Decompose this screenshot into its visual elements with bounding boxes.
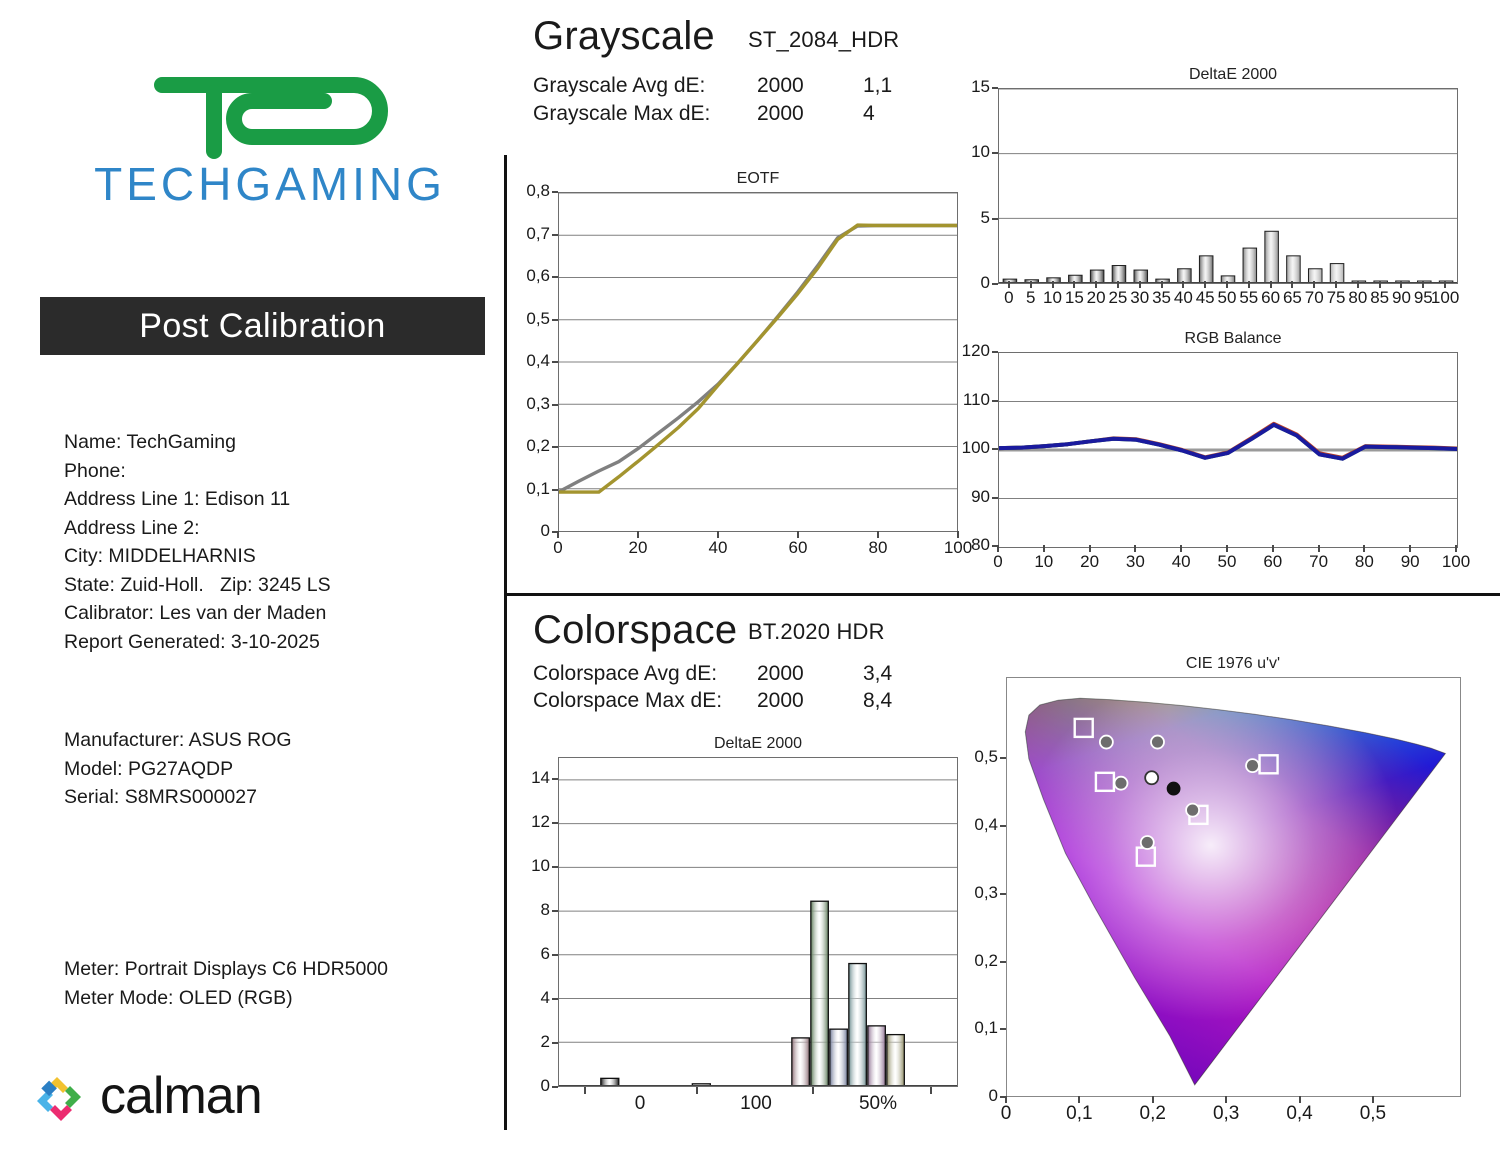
axis-tick-label: 0,2 xyxy=(942,951,998,971)
axis-tick-mark xyxy=(1000,757,1006,759)
axis-tick-mark xyxy=(552,954,558,956)
axis-tick-mark xyxy=(1008,281,1010,288)
grayscale-max-label: Grayscale Max dE: xyxy=(533,102,710,126)
axis-tick-mark xyxy=(1400,281,1402,288)
axis-tick-label: 0 xyxy=(605,1093,675,1115)
axis-tick-mark xyxy=(1455,545,1457,552)
axis-tick-label: 0,3 xyxy=(494,394,550,414)
axis-tick-mark xyxy=(552,489,558,491)
axis-tick-label: 15 xyxy=(934,77,990,97)
grayscale-deltae-plot-area xyxy=(998,88,1458,284)
axis-tick-label: 0,4 xyxy=(1270,1103,1330,1125)
axis-tick-mark xyxy=(552,319,558,321)
axis-tick-mark xyxy=(696,1087,698,1094)
axis-tick-mark xyxy=(1226,545,1228,552)
axis-tick-mark xyxy=(1000,961,1006,963)
calman-logo: calman xyxy=(28,1068,278,1130)
axis-tick-mark xyxy=(552,778,558,780)
colorspace-title: Colorspace xyxy=(533,608,737,652)
axis-tick-mark xyxy=(1043,545,1045,552)
axis-tick-mark xyxy=(1409,545,1411,552)
axis-tick-label: 0,5 xyxy=(1343,1103,1403,1125)
axis-tick-mark xyxy=(1204,281,1206,288)
axis-tick-mark xyxy=(717,531,719,538)
colorspace-stat-row: Colorspace Max dE: 2000 8,4 xyxy=(533,689,953,715)
axis-tick-mark xyxy=(1005,1096,1007,1103)
axis-tick-mark xyxy=(1272,545,1274,552)
axis-tick-mark xyxy=(1225,1096,1227,1103)
axis-tick-mark xyxy=(1291,281,1293,288)
grayscale-deltae-chart: DeltaE 2000 051015 051015202530354045505… xyxy=(998,66,1468,306)
axis-tick-label: 0,2 xyxy=(494,436,550,456)
axis-tick-mark xyxy=(1134,545,1136,552)
axis-tick-mark xyxy=(797,531,799,538)
axis-tick-label: 100 xyxy=(1425,288,1465,308)
axis-tick-label: 100 xyxy=(721,1093,791,1115)
techgaming-monogram-icon xyxy=(148,75,388,160)
grayscale-title: Grayscale xyxy=(533,14,715,58)
axis-tick-mark xyxy=(1299,1096,1301,1103)
axis-tick-label: 0,1 xyxy=(1049,1103,1109,1125)
grayscale-avg-metric: 2000 xyxy=(757,74,804,98)
axis-tick-mark xyxy=(992,400,998,402)
axis-tick-label: 0 xyxy=(494,1076,550,1096)
axis-tick-mark xyxy=(812,1087,814,1094)
axis-tick-mark xyxy=(1073,281,1075,288)
axis-tick-mark xyxy=(1078,1096,1080,1103)
grayscale-subtitle: ST_2084_HDR xyxy=(748,27,899,53)
axis-tick-label: 0 xyxy=(934,273,990,293)
colorspace-deltae-title: DeltaE 2000 xyxy=(558,735,958,753)
axis-tick-mark xyxy=(1372,1096,1374,1103)
axis-tick-label: 0 xyxy=(976,1103,1036,1125)
axis-tick-mark xyxy=(1030,281,1032,288)
axis-tick-mark xyxy=(637,531,639,538)
axis-tick-mark xyxy=(1182,281,1184,288)
axis-tick-label: 10 xyxy=(934,142,990,162)
axis-tick-mark xyxy=(992,87,998,89)
axis-tick-label: 8 xyxy=(494,900,550,920)
axis-tick-mark xyxy=(1248,281,1250,288)
colorspace-stat-row: Colorspace Avg dE: 2000 3,4 xyxy=(533,662,953,688)
axis-tick-mark xyxy=(1270,281,1272,288)
axis-tick-label: 0,6 xyxy=(494,266,550,286)
axis-tick-mark xyxy=(552,191,558,193)
axis-tick-mark xyxy=(1357,281,1359,288)
axis-tick-mark xyxy=(992,497,998,499)
axis-tick-mark xyxy=(552,910,558,912)
colorspace-avg-metric: 2000 xyxy=(757,662,804,686)
axis-tick-label: 50% xyxy=(843,1093,913,1115)
axis-tick-label: 0,2 xyxy=(1123,1103,1183,1125)
axis-tick-mark xyxy=(992,152,998,154)
grayscale-avg-value: 1,1 xyxy=(863,74,892,98)
axis-tick-mark xyxy=(1152,1096,1154,1103)
axis-tick-label: 40 xyxy=(688,538,748,558)
axis-tick-mark xyxy=(1313,281,1315,288)
axis-tick-label: 0,4 xyxy=(494,351,550,371)
grayscale-deltae-title: DeltaE 2000 xyxy=(998,66,1468,84)
axis-tick-mark xyxy=(1422,281,1424,288)
axis-tick-mark xyxy=(1139,281,1141,288)
customer-info: Name: TechGaming Phone: Address Line 1: … xyxy=(64,428,331,656)
colorspace-avg-label: Colorspace Avg dE: xyxy=(533,662,717,686)
axis-tick-label: 0,7 xyxy=(494,224,550,244)
axis-tick-mark xyxy=(1095,281,1097,288)
axis-tick-mark xyxy=(1379,281,1381,288)
colorspace-subtitle: BT.2020 HDR xyxy=(748,619,885,645)
axis-tick-label: 10 xyxy=(494,856,550,876)
eotf-chart: EOTF 00,10,20,30,40,50,60,70,8 020406080… xyxy=(528,170,958,555)
axis-tick-mark xyxy=(1318,545,1320,552)
axis-tick-mark xyxy=(930,1087,932,1094)
grayscale-stat-row: Grayscale Max dE: 2000 4 xyxy=(533,102,953,128)
axis-tick-mark xyxy=(552,1042,558,1044)
axis-tick-label: 0,3 xyxy=(942,883,998,903)
colorspace-deltae-plot-area xyxy=(558,757,958,1087)
axis-tick-mark xyxy=(1000,1028,1006,1030)
axis-tick-mark xyxy=(997,545,999,552)
display-info: Manufacturer: ASUS ROG Model: PG27AQDP S… xyxy=(64,726,292,812)
axis-tick-mark xyxy=(877,531,879,538)
axis-tick-mark xyxy=(552,866,558,868)
axis-tick-mark xyxy=(992,448,998,450)
axis-tick-mark xyxy=(1000,825,1006,827)
techgaming-logo: TECHGAMING xyxy=(60,75,480,210)
rgb-balance-series-svg xyxy=(999,353,1457,547)
axis-tick-label: 0,5 xyxy=(942,747,998,767)
axis-tick-mark xyxy=(992,283,998,285)
report-title-banner: Post Calibration xyxy=(40,297,485,355)
cie-chart: CIE 1976 u'v' 00,10,20,30,40,5 00,10,20,… xyxy=(998,655,1468,1130)
axis-tick-label: 0,1 xyxy=(494,479,550,499)
axis-tick-label: 20 xyxy=(608,538,668,558)
axis-tick-label: 0,1 xyxy=(942,1018,998,1038)
axis-tick-mark xyxy=(552,234,558,236)
axis-tick-label: 80 xyxy=(848,538,908,558)
axis-tick-mark xyxy=(557,531,559,538)
techgaming-wordmark: TECHGAMING xyxy=(60,157,480,211)
axis-tick-mark xyxy=(552,998,558,1000)
axis-tick-label: 2 xyxy=(494,1032,550,1052)
calman-wordmark: calman xyxy=(100,1066,262,1126)
colorspace-heading: Colorspace xyxy=(533,608,737,653)
grayscale-max-value: 4 xyxy=(863,102,875,126)
axis-tick-mark xyxy=(552,446,558,448)
axis-tick-mark xyxy=(552,822,558,824)
axis-tick-label: 12 xyxy=(494,812,550,832)
eotf-series-svg xyxy=(559,193,957,531)
axis-tick-mark xyxy=(552,276,558,278)
axis-tick-label: 110 xyxy=(934,390,990,410)
rgb-balance-chart: RGB Balance 8090100110120 01020304050607… xyxy=(998,330,1468,570)
cie-chart-title: CIE 1976 u'v' xyxy=(998,655,1468,673)
grayscale-stat-row: Grayscale Avg dE: 2000 1,1 xyxy=(533,74,953,100)
axis-tick-mark xyxy=(1363,545,1365,552)
panel-divider-horizontal xyxy=(504,593,1500,596)
axis-tick-label: 0,5 xyxy=(494,309,550,329)
grayscale-deltae-bars-svg xyxy=(999,89,1457,283)
eotf-chart-title: EOTF xyxy=(558,170,958,188)
axis-tick-label: 100 xyxy=(1426,552,1486,572)
rgb-balance-title: RGB Balance xyxy=(998,330,1468,348)
axis-tick-mark xyxy=(552,361,558,363)
axis-tick-mark xyxy=(992,351,998,353)
axis-tick-label: 60 xyxy=(768,538,828,558)
axis-tick-mark xyxy=(1161,281,1163,288)
cie-diagram-svg xyxy=(1007,678,1460,1096)
axis-tick-label: 4 xyxy=(494,988,550,1008)
calman-diamond-icon xyxy=(28,1068,90,1130)
colorspace-deltae-bars-svg xyxy=(559,758,957,1086)
axis-tick-mark xyxy=(992,218,998,220)
axis-tick-mark xyxy=(1117,281,1119,288)
axis-tick-mark xyxy=(552,404,558,406)
grayscale-avg-label: Grayscale Avg dE: xyxy=(533,74,705,98)
axis-tick-label: 14 xyxy=(494,768,550,788)
axis-tick-label: 5 xyxy=(934,208,990,228)
axis-tick-label: 100 xyxy=(934,438,990,458)
panel-divider-vertical xyxy=(504,155,507,1130)
axis-tick-mark xyxy=(1226,281,1228,288)
axis-tick-label: 120 xyxy=(934,341,990,361)
colorspace-max-label: Colorspace Max dE: xyxy=(533,689,722,713)
axis-tick-label: 0,4 xyxy=(942,815,998,835)
axis-tick-label: 0,8 xyxy=(494,181,550,201)
axis-tick-label: 6 xyxy=(494,944,550,964)
axis-tick-mark xyxy=(1000,893,1006,895)
rgb-balance-plot-area xyxy=(998,352,1458,548)
grayscale-heading: Grayscale xyxy=(533,14,715,59)
axis-tick-mark xyxy=(552,1086,558,1088)
colorspace-max-metric: 2000 xyxy=(757,689,804,713)
colorspace-max-value: 8,4 xyxy=(863,689,892,713)
colorspace-deltae-chart: DeltaE 2000 02468101214 010050% xyxy=(528,735,958,1130)
colorspace-avg-value: 3,4 xyxy=(863,662,892,686)
axis-tick-mark xyxy=(584,1087,586,1094)
axis-tick-mark xyxy=(1180,545,1182,552)
axis-tick-label: 0,3 xyxy=(1196,1103,1256,1125)
axis-tick-mark xyxy=(1089,545,1091,552)
report-title: Post Calibration xyxy=(40,297,485,355)
grayscale-max-metric: 2000 xyxy=(757,102,804,126)
axis-tick-label: 90 xyxy=(934,487,990,507)
axis-tick-mark xyxy=(1335,281,1337,288)
axis-tick-label: 0 xyxy=(528,538,588,558)
meter-info: Meter: Portrait Displays C6 HDR5000 Mete… xyxy=(64,955,388,1012)
eotf-plot-area xyxy=(558,192,958,532)
cie-plot-area xyxy=(1006,677,1461,1097)
axis-tick-mark xyxy=(1444,281,1446,288)
axis-tick-mark xyxy=(1052,281,1054,288)
